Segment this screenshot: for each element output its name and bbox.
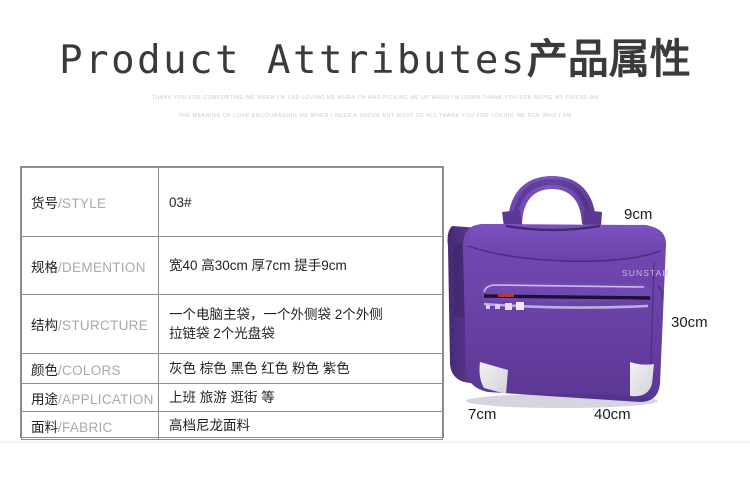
row-label-cn: 结构 — [31, 318, 58, 333]
row-label-demention: 规格/DEMENTION — [22, 237, 159, 295]
brand-logo: SUNSTAR — [622, 268, 670, 278]
row-label-cn: 面料 — [31, 420, 58, 435]
row-label-cn: 颜色 — [31, 363, 58, 378]
page-title-english: Product Attributes — [59, 38, 527, 83]
row-value-line-1: 一个电脑主袋，一个外侧袋 2个外侧 — [169, 305, 442, 324]
page-title-chinese: 产品属性 — [527, 36, 691, 82]
table-row: 结构/STURCTURE 一个电脑主袋，一个外侧袋 2个外侧 拉链袋 2个光盘袋 — [22, 295, 443, 354]
page-title: Product Attributes产品属性 — [0, 34, 750, 86]
bottom-divider — [0, 441, 750, 445]
page-header: Product Attributes产品属性 THANK YOU FOR COM… — [0, 34, 750, 122]
row-label-cn: 规格 — [31, 260, 58, 275]
row-label-en: /APPLICATION — [58, 392, 154, 407]
table-row: 货号/STYLE 03# — [22, 168, 443, 237]
row-label-en: /FABRIC — [58, 420, 113, 435]
subtitle-line-2: THE MEANING OF LOVE ENCOURAGING ME WHEN … — [0, 111, 750, 122]
row-label-sturcture: 结构/STURCTURE — [22, 295, 159, 354]
row-value-sturcture: 一个电脑主袋，一个外侧袋 2个外侧 拉链袋 2个光盘袋 — [159, 295, 443, 354]
row-label-style: 货号/STYLE — [22, 168, 159, 237]
dimension-label-depth: 7cm — [468, 406, 496, 423]
table-row: 面料/FABRIC 高档尼龙面料 — [22, 412, 443, 440]
row-label-fabric: 面料/FABRIC — [22, 412, 159, 440]
row-label-en: /COLORS — [58, 363, 121, 378]
deco-square-2 — [495, 304, 500, 309]
row-value-style: 03# — [159, 168, 443, 237]
deco-square-4 — [516, 302, 524, 310]
zipper-pull-icon — [498, 294, 514, 297]
row-label-en: /STYLE — [58, 196, 106, 211]
row-label-en: /STURCTURE — [58, 318, 148, 333]
deco-square-3 — [505, 303, 512, 310]
dimension-label-height: 30cm — [671, 314, 708, 331]
bag-handle-icon — [508, 176, 596, 224]
table-row: 用途/APPLICATION 上班 旅游 逛街 等 — [22, 384, 443, 412]
table-row: 颜色/COLORS 灰色 棕色 黑色 红色 粉色 紫色 — [22, 354, 443, 384]
product-photo: SUNSTAR 9cm 30cm 40cm 7cm — [444, 166, 750, 438]
product-attributes-table: 货号/STYLE 03# 规格/DEMENTION 宽40 高30cm 厚7cm… — [20, 166, 444, 438]
subtitle-line-1: THANK YOU FOR COMFORTING ME WHEN I'M SAD… — [0, 93, 750, 104]
row-value-fabric: 高档尼龙面料 — [159, 412, 443, 440]
brand-logo-text: SUNSTAR — [622, 268, 670, 278]
dimension-label-handle: 9cm — [624, 206, 652, 223]
row-label-cn: 货号 — [31, 196, 58, 211]
row-value-demention: 宽40 高30cm 厚7cm 提手9cm — [159, 237, 443, 295]
row-value-application: 上班 旅游 逛街 等 — [159, 384, 443, 412]
row-label-application: 用途/APPLICATION — [22, 384, 159, 412]
table-row: 规格/DEMENTION 宽40 高30cm 厚7cm 提手9cm — [22, 237, 443, 295]
row-value-line-2: 拉链袋 2个光盘袋 — [169, 324, 442, 343]
laptop-bag-illustration: SUNSTAR — [444, 166, 750, 438]
deco-square-1 — [486, 305, 490, 309]
row-value-colors: 灰色 棕色 黑色 红色 粉色 紫色 — [159, 354, 443, 384]
row-label-colors: 颜色/COLORS — [22, 354, 159, 384]
row-label-cn: 用途 — [31, 392, 58, 407]
row-label-en: /DEMENTION — [58, 260, 146, 275]
dimension-label-width: 40cm — [594, 406, 631, 423]
